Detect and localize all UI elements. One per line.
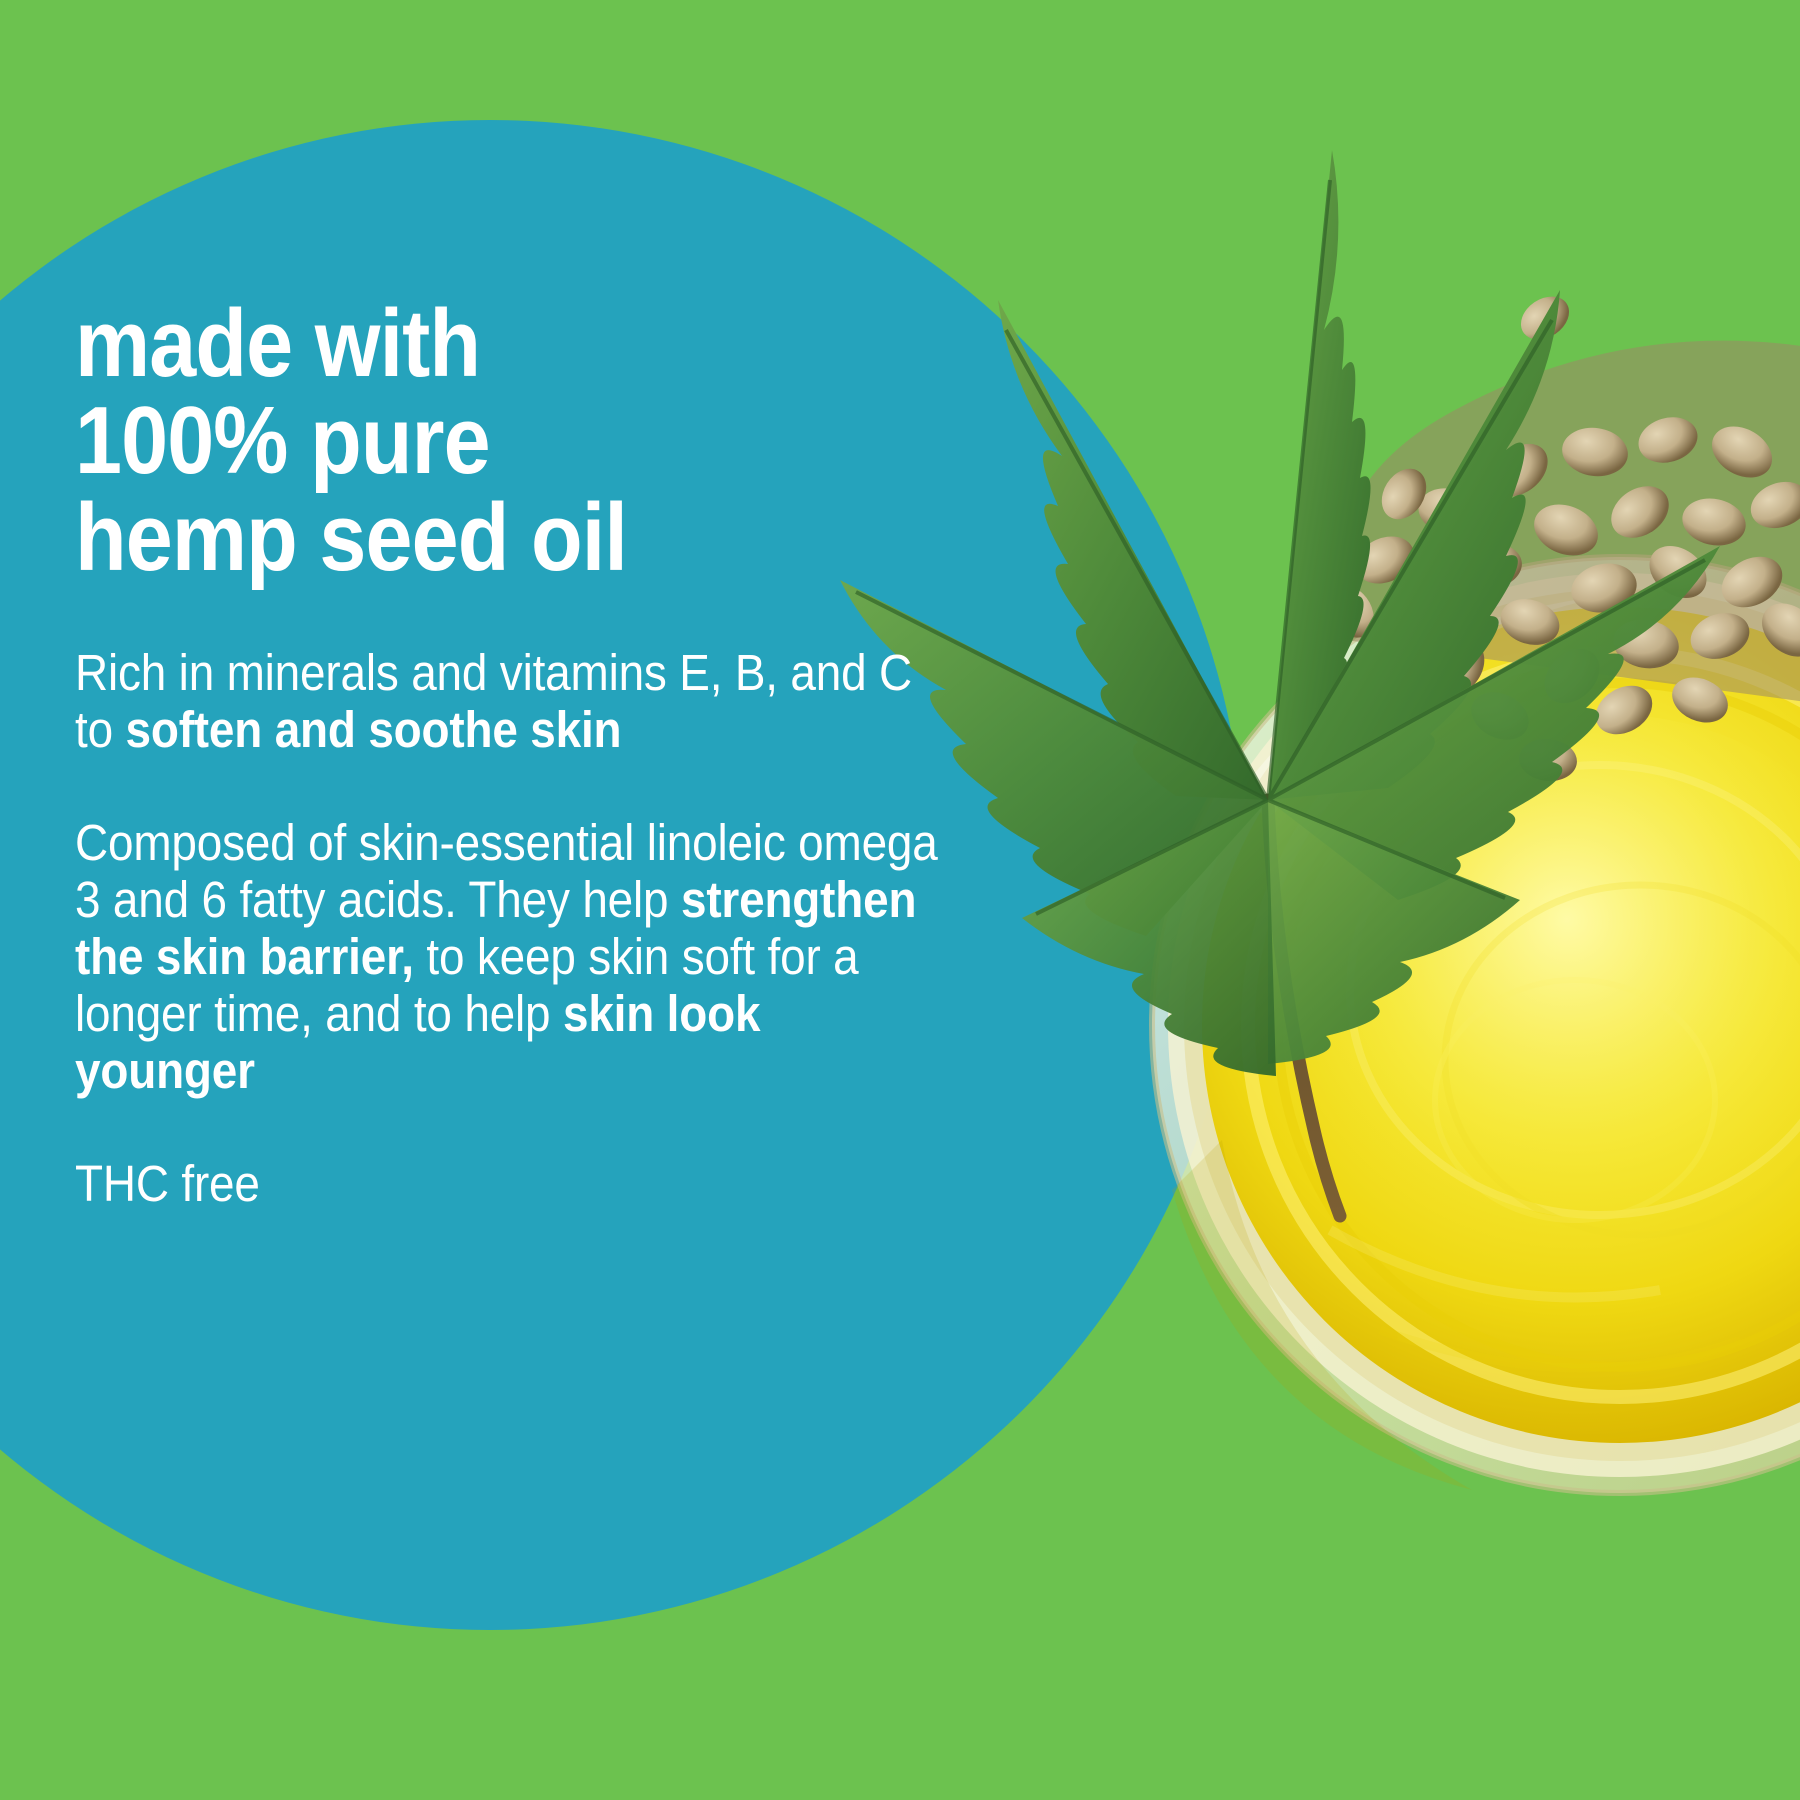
hemp-seed-pile-icon	[1322, 288, 1800, 784]
benefit-vitamins-text-bold: soften and soothe skin	[125, 701, 621, 758]
product-benefits-poster: made with 100% pure hemp seed oil Rich i…	[0, 0, 1800, 1800]
hemp-seed-oil-bowl-icon	[1152, 557, 1800, 1493]
thc-free-note: THC free	[75, 1155, 939, 1212]
copy-block: made with 100% pure hemp seed oil Rich i…	[75, 295, 1035, 1212]
page-title: made with 100% pure hemp seed oil	[75, 295, 920, 586]
thc-free-label: THC free	[75, 1155, 260, 1212]
benefit-paragraph-vitamins: Rich in minerals and vitamins E, B, and …	[75, 644, 939, 758]
benefit-paragraph-fatty-acids: Composed of skin-essential linoleic omeg…	[75, 814, 939, 1099]
